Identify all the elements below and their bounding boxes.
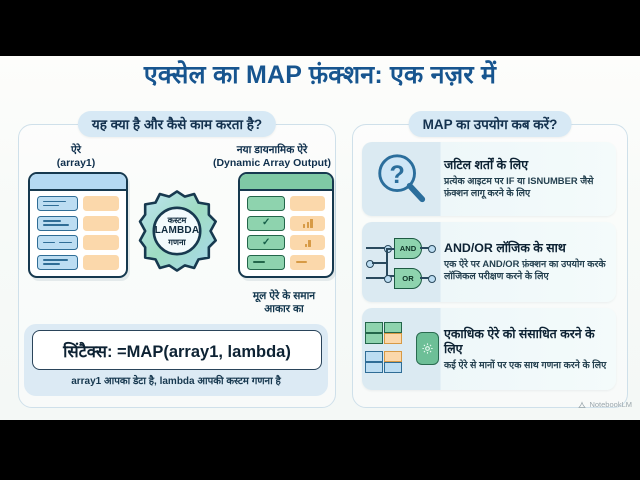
output-array-rows: ✓ ✓	[240, 191, 332, 276]
use-case-text: AND/OR लॉजिक के साथ एक ऐरे पर AND/OR फ़ं…	[440, 241, 616, 283]
array-cell-orange	[83, 196, 119, 211]
multi-array-gear-icon	[362, 308, 440, 390]
watermark-text: NotebookLM	[589, 400, 632, 409]
notebooklm-logo-icon	[578, 401, 586, 409]
and-gate: AND	[394, 238, 422, 259]
or-gate: OR	[394, 268, 422, 289]
right-panel-badge: MAP का उपयोग कब करें?	[409, 111, 572, 137]
array-cell-green-check: ✓	[247, 216, 285, 231]
use-case-card-multiple-arrays: एकाधिक ऐरे को संसाधित करने के लिए कई ऐरे…	[362, 308, 616, 390]
array-row	[37, 216, 119, 231]
array-cell-orange	[290, 196, 325, 211]
array-cell-orange	[83, 235, 119, 250]
array-cell-green	[247, 196, 285, 211]
left-panel-badge: यह क्या है और कैसे काम करता है?	[78, 111, 276, 137]
array-cell-orange	[83, 255, 119, 270]
page-title: एक्सेल का MAP फ़ंक्शन: एक नज़र में	[0, 62, 640, 90]
array-cell-orange-chart	[290, 235, 325, 250]
same-size-caption: मूल ऐरे के समान आकार का	[224, 290, 344, 316]
check-icon: ✓	[262, 238, 270, 248]
input-array-label-hi: ऐरे	[24, 144, 128, 157]
array-cell-orange	[83, 216, 119, 231]
output-array-header	[240, 174, 332, 191]
bar-chart-icon	[303, 219, 313, 228]
array-row	[247, 255, 325, 270]
use-case-body: कई ऐरे से मानों पर एक साथ गणना करने के ल…	[444, 359, 608, 371]
check-icon: ✓	[262, 218, 270, 228]
input-array-label: ऐरे (array1)	[24, 144, 128, 170]
infographic-canvas: एक्सेल का MAP फ़ंक्शन: एक नज़र में यह क्…	[0, 56, 640, 420]
svg-text:?: ?	[389, 161, 404, 189]
array-row	[37, 196, 119, 211]
use-case-title: AND/OR लॉजिक के साथ	[444, 241, 608, 256]
array-cell-blue	[37, 216, 78, 231]
page-title-text: एक्सेल का MAP फ़ंक्शन: एक नज़र में	[144, 62, 496, 90]
array-row: ✓	[247, 235, 325, 250]
syntax-subcaption: array1 आपका डेटा है, lambda आपकी कस्टम ग…	[24, 373, 328, 387]
same-size-line-2: आकार का	[224, 303, 344, 316]
use-case-body: एक ऐरे पर AND/OR फ़ंक्शन का उपयोग करके ल…	[444, 258, 608, 283]
use-case-text: जटिल शर्तों के लिए प्रत्येक आइटम पर IF य…	[440, 158, 616, 200]
array-cell-green	[247, 255, 285, 270]
use-case-card-complex-conditions: ? जटिल शर्तों के लिए प्रत्येक आइटम पर IF…	[362, 142, 616, 216]
lambda-gear-icon: कस्टम LAMBDA गणना	[134, 188, 220, 274]
input-array-card	[28, 172, 128, 278]
video-frame: एक्सेल का MAP फ़ंक्शन: एक नज़र में यह क्…	[0, 0, 640, 480]
input-array-rows	[30, 191, 126, 276]
use-case-body: प्रत्येक आइटम पर IF या ISNUMBER जैसे फ़ं…	[444, 175, 608, 200]
gear-icon	[416, 332, 439, 365]
array-cell-blue	[37, 235, 78, 250]
use-case-title: एकाधिक ऐरे को संसाधित करने के लिए	[444, 327, 608, 357]
syntax-box: सिंटैक्स: =MAP(array1, lambda)	[32, 330, 322, 370]
array-cell-blue	[37, 255, 78, 270]
input-array-label-en: (array1)	[24, 157, 128, 170]
output-array-label-hi: नया डायनामिक ऐरे	[212, 144, 332, 157]
use-case-card-and-or-logic: AND OR AND/OR लॉजिक के साथ ए	[362, 222, 616, 302]
output-array-card: ✓ ✓	[238, 172, 334, 278]
use-case-text: एकाधिक ऐरे को संसाधित करने के लिए कई ऐरे…	[440, 327, 616, 371]
input-array-header	[30, 174, 126, 191]
use-case-title: जटिल शर्तों के लिए	[444, 158, 608, 173]
output-array-label-en: (Dynamic Array Output)	[212, 157, 332, 170]
logic-gates-icon: AND OR	[362, 222, 440, 302]
array-cell-blue	[37, 196, 78, 211]
array-row	[37, 235, 119, 250]
array-cell-green-check: ✓	[247, 235, 285, 250]
array-row: ✓	[247, 216, 325, 231]
array-row	[37, 255, 119, 270]
array-cell-orange	[290, 255, 325, 270]
notebooklm-watermark: NotebookLM	[578, 400, 632, 409]
array-row	[247, 196, 325, 211]
magnifier-question-icon: ?	[362, 142, 440, 216]
same-size-line-1: मूल ऐरे के समान	[224, 290, 344, 303]
output-array-label: नया डायनामिक ऐरे (Dynamic Array Output)	[212, 144, 332, 170]
array-cell-orange-chart	[290, 216, 325, 231]
bar-chart-icon	[305, 238, 311, 247]
